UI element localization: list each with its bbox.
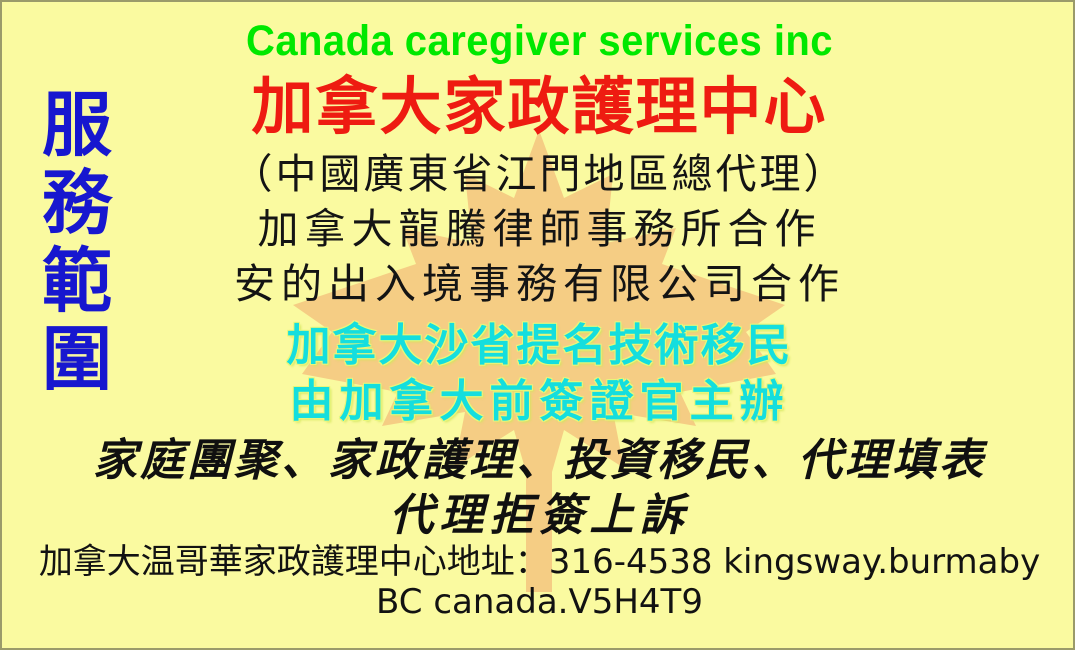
address-line-1: 加拿大温哥華家政護理中心地址：316-4538 kingsway.burmaby [2, 545, 1075, 579]
vertical-char-4: 圍 [42, 320, 112, 398]
address-line-2: BC canada.V5H4T9 [2, 585, 1075, 619]
highlight-line-1: 加拿大沙省提名技術移民 [2, 324, 1075, 368]
highlight-line-2: 由加拿大前簽證官主辦 [2, 380, 1075, 424]
subtitle-line-3: 安的出入境事務有限公司合作 [2, 264, 1075, 305]
english-company-title: Canada caregiver services inc [40, 20, 1040, 63]
vertical-char-3: 範 [42, 242, 112, 320]
vertical-char-2: 務 [42, 164, 112, 242]
subtitle-line-1: （中國廣東省江門地區總代理） [2, 154, 1075, 195]
business-poster: 服 務 範 圍 Canada caregiver services inc 加拿… [0, 0, 1075, 650]
poster-content: Canada caregiver services inc 加拿大家政護理中心 … [2, 2, 1075, 650]
services-line-1: 家庭團聚、家政護理、投資移民、代理填表 [2, 439, 1075, 483]
chinese-company-title: 加拿大家政護理中心 [2, 76, 1075, 138]
vertical-service-label: 服 務 範 圍 [38, 86, 116, 398]
services-line-2: 代理拒簽上訴 [2, 494, 1075, 538]
vertical-char-1: 服 [42, 86, 112, 164]
subtitle-line-2: 加拿大龍騰律師事務所合作 [2, 209, 1075, 250]
